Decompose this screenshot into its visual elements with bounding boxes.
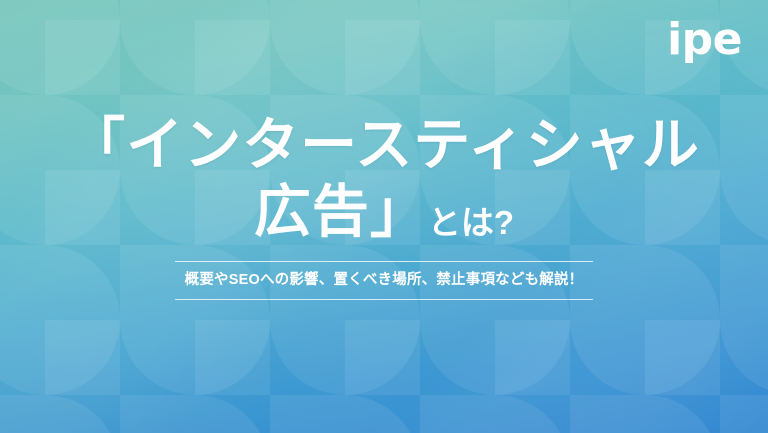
- page-title-line-2-main: 広告」: [254, 179, 428, 246]
- page-title-line-2-suffix: とは?: [428, 206, 514, 245]
- subtitle-text: 概要やSEOへの影響、置くべき場所、禁止事項なども解説！: [175, 262, 593, 299]
- page-title-line-2: 広告」 とは?: [0, 179, 768, 246]
- hero-content: 「インタースティシャル 広告」 とは? 概要やSEOへの影響、置くべき場所、禁止…: [0, 112, 768, 300]
- page-title-line-1: 「インタースティシャル: [0, 112, 768, 179]
- subtitle-rule-bottom: [175, 299, 593, 300]
- hero-banner: ipe 「インタースティシャル 広告」 とは? 概要やSEOへの影響、置くべき場…: [0, 0, 768, 433]
- ipe-logo[interactable]: ipe: [667, 18, 742, 62]
- subtitle-block: 概要やSEOへの影響、置くべき場所、禁止事項なども解説！: [175, 261, 593, 300]
